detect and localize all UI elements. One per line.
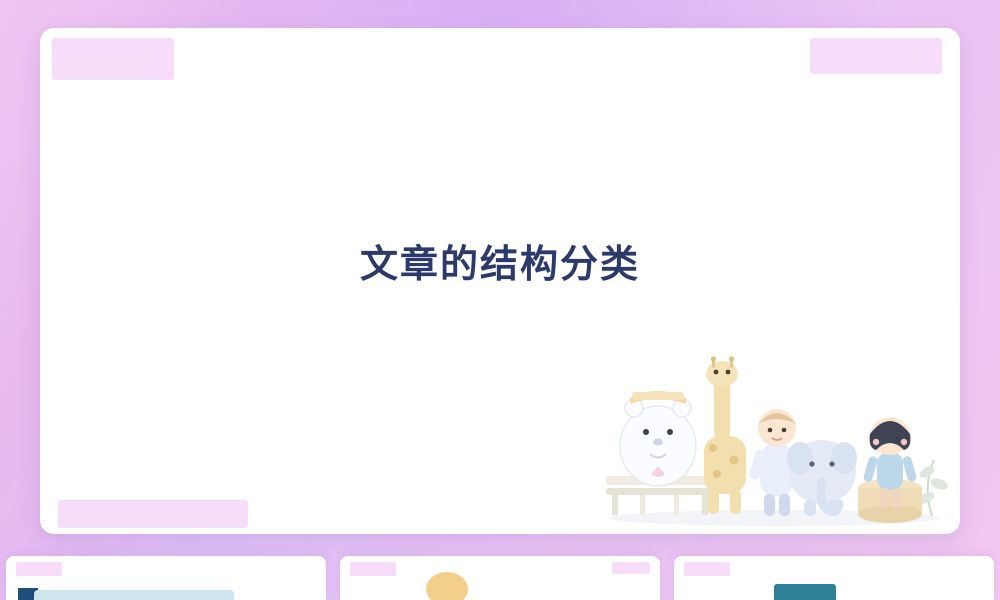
thumbnail-slide-3[interactable] [674,556,994,600]
presentation-stage: 文章的结构分类 [0,0,1000,600]
thumbnail-slide-2[interactable] [340,556,660,600]
thumbnail-2-circle [426,572,468,600]
thumbnail-1-label [6,556,7,557]
thumbnail-1-placeholder [16,562,62,576]
top-right-placeholder[interactable] [810,38,942,74]
top-left-placeholder[interactable] [52,38,174,80]
thumbnail-1-bar [34,590,234,600]
thumbnail-3-card [774,584,836,600]
thumbnail-slide-1[interactable] [6,556,326,600]
slide-canvas[interactable]: 文章的结构分类 [40,28,960,534]
thumbnail-2-placeholder-right [612,562,650,574]
bottom-left-placeholder[interactable] [58,500,248,528]
thumbnail-3-label [674,556,675,557]
thumbnail-2-label [340,556,341,557]
giraffe-figure [704,356,746,514]
slide-title: 文章的结构分类 [40,233,960,288]
kids-and-animals-illustration [600,348,950,528]
thumbnail-3-placeholder [684,562,730,576]
elephant-figure [787,440,857,516]
polar-bear-figure [620,391,696,486]
thumbnail-2-placeholder [350,562,396,576]
slide-thumbnail-strip[interactable] [0,556,1000,600]
